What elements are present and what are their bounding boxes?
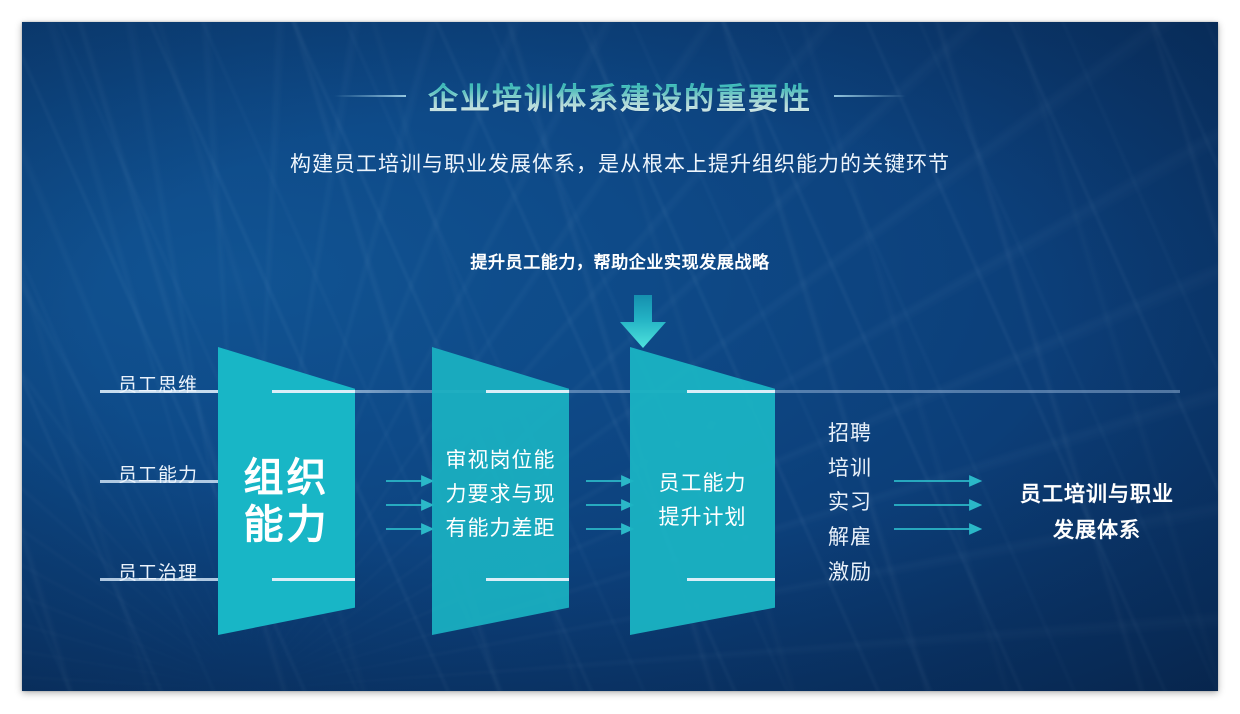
slide-canvas: 企业培训体系建设的重要性 构建员工培训与职业发展体系，是从根本上提升组织能力的关… xyxy=(22,22,1218,691)
capability-flow-diagram: 员工思维 员工能力 员工治理 组织 能力 审视岗位能 xyxy=(22,22,1218,691)
flow-arrows-2 xyxy=(586,472,634,540)
outcome-label: 员工培训与职业 发展体系 xyxy=(997,477,1197,548)
flow-block-1-label: 组织 能力 xyxy=(218,455,355,549)
guide-highlight-3b xyxy=(687,578,775,581)
flow-arrows-3 xyxy=(894,472,982,540)
guide-highlight-3a xyxy=(687,390,775,393)
guide-highlight-2b xyxy=(486,578,569,581)
keyword-item-1: 培训 xyxy=(828,455,872,483)
guide-highlight-2a xyxy=(486,390,569,393)
keyword-item-3: 解雇 xyxy=(828,524,872,552)
keyword-item-4: 激励 xyxy=(828,559,872,587)
keyword-item-0: 招聘 xyxy=(828,420,872,448)
flow-arrows-1 xyxy=(386,472,434,540)
keyword-list: 招聘 培训 实习 解雇 激励 xyxy=(828,420,872,587)
flow-block-2-label: 审视岗位能 力要求与现 有能力差距 xyxy=(432,444,569,546)
flow-block-3-label: 员工能力 提升计划 xyxy=(630,467,775,535)
guide-highlight-1b xyxy=(272,578,355,581)
guide-highlight-1a xyxy=(272,390,355,393)
keyword-item-2: 实习 xyxy=(828,489,872,517)
